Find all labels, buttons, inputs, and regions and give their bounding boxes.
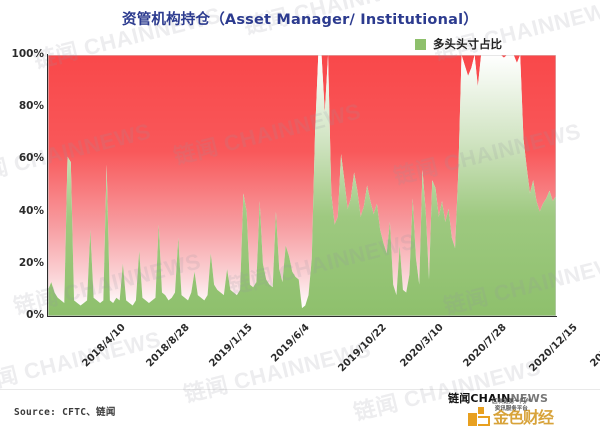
jinse-sub-line2: 资讯服务平台 [492,406,531,413]
x-axis-labels: 2018/4/102018/8/282019/1/152019/6/42019/… [0,0,600,433]
x-tick-label: 2019/1/15 [207,322,254,369]
y-axis-line [47,54,48,317]
x-tick-label: 2018/4/10 [80,322,127,369]
x-tick-label: 2020/12/15 [527,322,579,374]
source-note: Source: CFTC、链闻 [14,404,116,418]
x-tick-label: 2019/10/22 [336,322,388,374]
x-axis-line [47,316,557,317]
jinse-sub-line1: 区块链第一门户 [492,399,531,406]
x-tick-label: 2018/8/28 [144,322,191,369]
x-tick-label: 2021/4/13 [588,322,600,369]
jinse-mark-icon [468,407,490,426]
x-tick-label: 2020/3/10 [398,322,445,369]
jinse-logo-subtitle: 区块链第一门户 资讯服务平台 [492,399,531,413]
x-tick-label: 2019/6/4 [269,322,311,364]
x-tick-label: 2020/7/28 [461,322,508,369]
